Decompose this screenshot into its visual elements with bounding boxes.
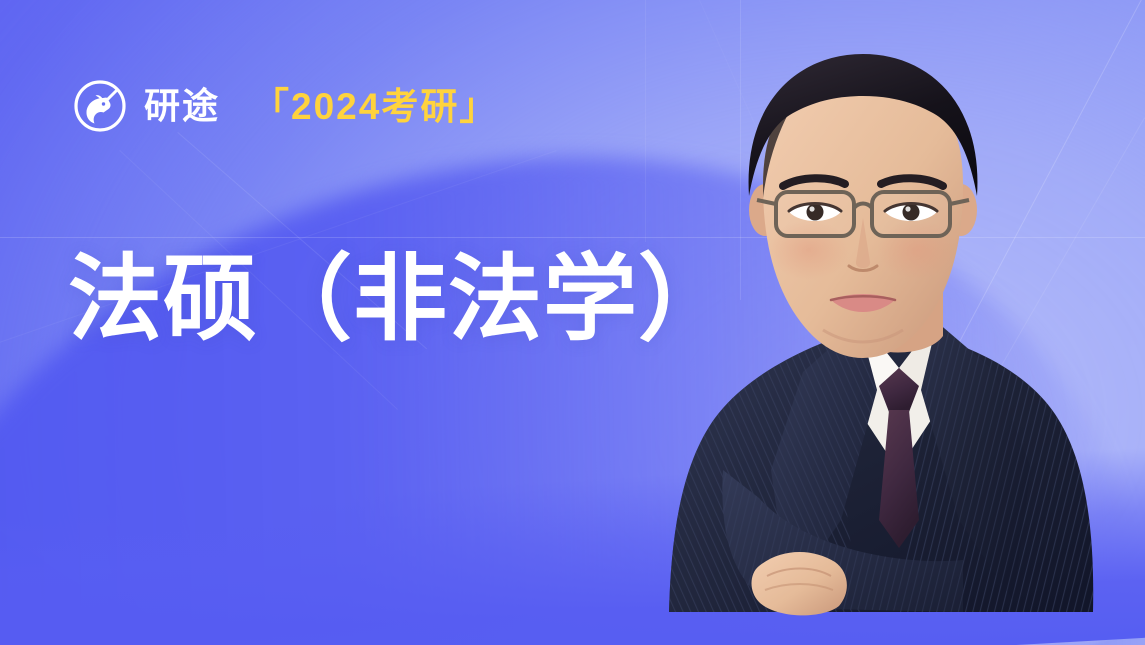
brand-name: 研途: [144, 88, 220, 124]
brand-tagline: 「2024考研」: [252, 88, 498, 125]
unicorn-in-circle-icon: [72, 78, 128, 134]
instructor-portrait: [663, 0, 1133, 645]
course-banner: 研途 「2024考研」 法硕（非法学）: [0, 0, 1145, 645]
brand-row: 研途 「2024考研」: [72, 78, 498, 134]
page-title: 法硕（非法学）: [68, 248, 733, 350]
suit-group: [669, 318, 1093, 615]
head-group: [749, 54, 978, 358]
